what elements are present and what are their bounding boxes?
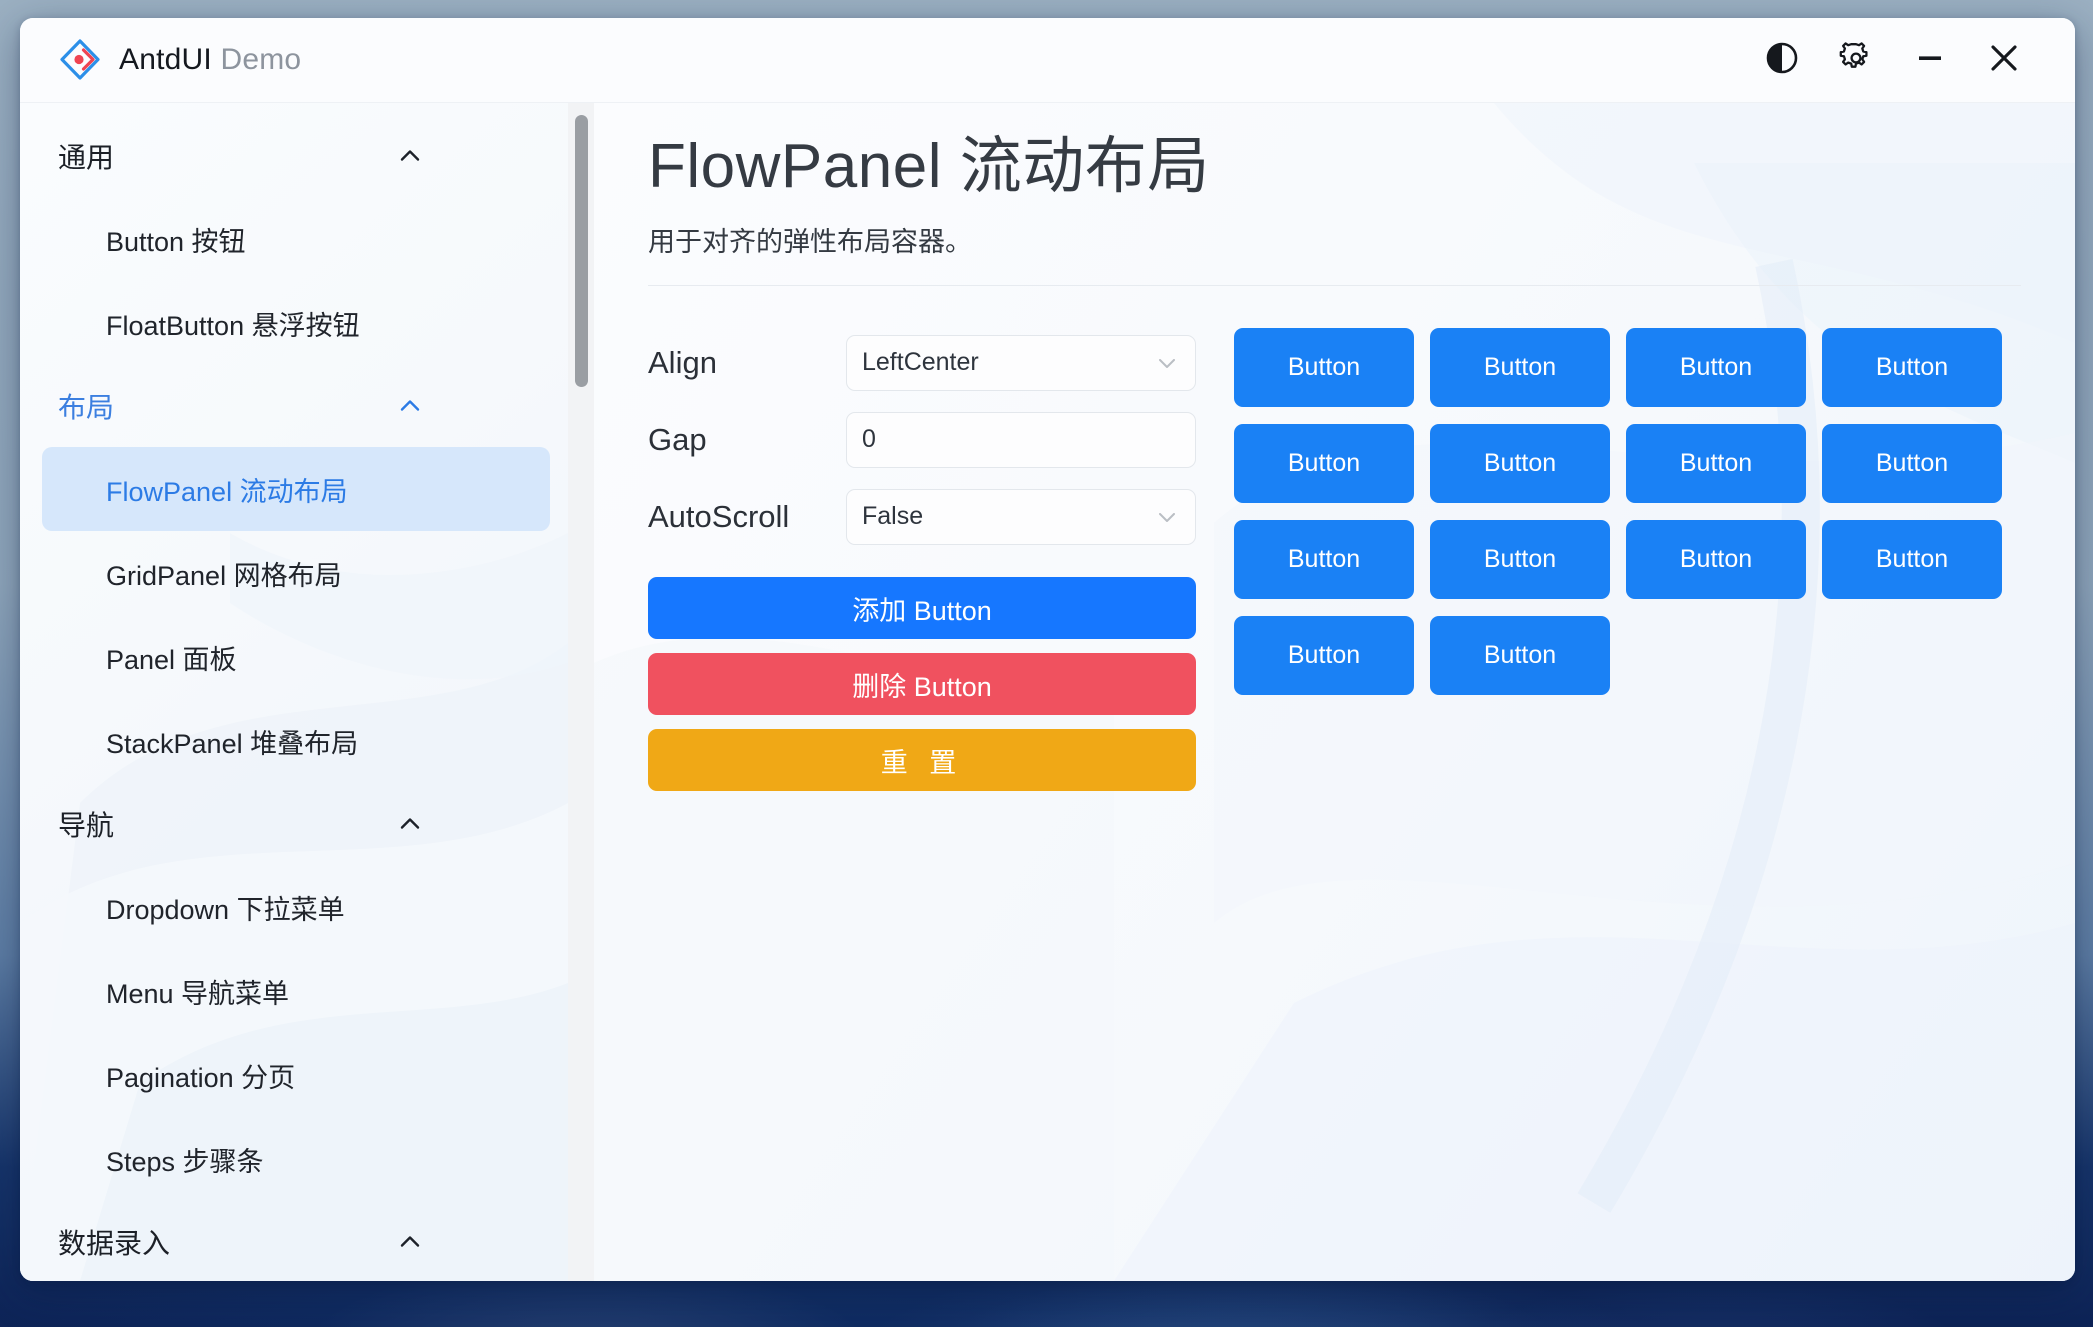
app-brand: AntdUI Demo [20, 38, 301, 82]
sidebar-item-panel[interactable]: Panel 面板 [42, 615, 550, 699]
sidebar-group-label: 布局 [58, 386, 114, 426]
sidebar-item-menu[interactable]: Menu 导航菜单 [42, 949, 550, 1033]
flow-button[interactable]: Button [1234, 616, 1414, 695]
sidebar-item-stackpanel[interactable]: StackPanel 堆叠布局 [42, 699, 550, 783]
sidebar-item-pagination[interactable]: Pagination 分页 [42, 1033, 550, 1117]
sidebar-nav: 通用 Button 按钮 FloatButton 悬浮按钮 布局 [20, 103, 568, 1281]
flow-button[interactable]: Button [1430, 328, 1610, 407]
flow-button[interactable]: Button [1430, 520, 1610, 599]
sidebar-group-general[interactable]: 通用 [20, 115, 568, 197]
content-area: FlowPanel 流动布局 用于对齐的弹性布局容器。 Align LeftCe… [594, 103, 2075, 1281]
sidebar-group-label: 导航 [58, 804, 114, 844]
flow-button[interactable]: Button [1234, 328, 1414, 407]
sidebar-item-label: StackPanel 堆叠布局 [106, 722, 358, 761]
chevron-up-icon [397, 143, 423, 169]
align-label: Align [648, 345, 846, 381]
flow-button[interactable]: Button [1626, 328, 1806, 407]
flow-button[interactable]: Button [1626, 424, 1806, 503]
chevron-down-icon [1155, 351, 1179, 375]
settings-form: Align LeftCenter Gap [648, 324, 1196, 791]
chevron-down-icon [1155, 505, 1179, 529]
sidebar-item-label: Button 按钮 [106, 220, 246, 259]
page-subtitle: 用于对齐的弹性布局容器。 [648, 220, 2021, 259]
antd-diamond-logo-icon [58, 38, 102, 82]
chevron-up-icon [397, 1229, 423, 1255]
autoscroll-select[interactable]: False [846, 489, 1196, 545]
sidebar-item-label: Steps 步骤条 [106, 1140, 264, 1179]
flow-button[interactable]: Button [1234, 520, 1414, 599]
scrollbar-thumb[interactable] [575, 115, 588, 387]
sidebar-item-label: Menu 导航菜单 [106, 972, 289, 1011]
title-bar: AntdUI Demo [20, 18, 2075, 103]
delete-button[interactable]: 删除 Button [648, 653, 1196, 715]
flow-button[interactable]: Button [1234, 424, 1414, 503]
sidebar-item-gridpanel[interactable]: GridPanel 网格布局 [42, 531, 550, 615]
gap-value: 0 [862, 425, 1179, 454]
autoscroll-label: AutoScroll [648, 499, 846, 535]
form-row-autoscroll: AutoScroll False [648, 478, 1196, 555]
sidebar-item-label: FlowPanel 流动布局 [106, 470, 348, 509]
sidebar-item-dropdown[interactable]: Dropdown 下拉菜单 [42, 865, 550, 949]
app-title: AntdUI Demo [119, 43, 301, 77]
title-divider [648, 285, 2021, 286]
page-title: FlowPanel 流动布局 [648, 131, 2021, 202]
sidebar-group-data-entry[interactable]: 数据录入 [20, 1201, 568, 1281]
chevron-up-icon [397, 811, 423, 837]
settings-button[interactable] [1819, 29, 1893, 91]
reset-button[interactable]: 重 置 [648, 729, 1196, 791]
sidebar-item-label: FloatButton 悬浮按钮 [106, 304, 360, 343]
sidebar-group-label: 数据录入 [58, 1222, 170, 1262]
flow-button[interactable]: Button [1430, 616, 1610, 695]
gap-input[interactable]: 0 [846, 412, 1196, 468]
sidebar-group-layout[interactable]: 布局 [20, 365, 568, 447]
flow-button[interactable]: Button [1822, 328, 2002, 407]
minimize-button[interactable] [1893, 29, 1967, 91]
gear-icon [1838, 40, 1874, 81]
sidebar-item-label: GridPanel 网格布局 [106, 554, 342, 593]
half-circle-contrast-icon [1765, 41, 1799, 80]
sidebar-item-label: Dropdown 下拉菜单 [106, 888, 345, 927]
align-value: LeftCenter [862, 348, 1155, 377]
minimize-icon [1912, 40, 1948, 81]
sidebar-item-label: Panel 面板 [106, 638, 237, 677]
sidebar-scrollbar[interactable] [568, 103, 594, 1281]
flow-button[interactable]: Button [1822, 520, 2002, 599]
sidebar: 通用 Button 按钮 FloatButton 悬浮按钮 布局 [20, 103, 568, 1281]
app-title-strong: AntdUI [119, 43, 212, 76]
sidebar-item-label: Pagination 分页 [106, 1056, 295, 1095]
close-button[interactable] [1967, 29, 2041, 91]
flow-panel-demo: Button Button Button Button Button Butto… [1234, 324, 2021, 712]
sidebar-group-navigation[interactable]: 导航 [20, 783, 568, 865]
sidebar-group-label: 通用 [58, 136, 114, 176]
window-body: 通用 Button 按钮 FloatButton 悬浮按钮 布局 [20, 103, 2075, 1281]
gap-label: Gap [648, 422, 846, 458]
sidebar-item-button[interactable]: Button 按钮 [42, 197, 550, 281]
sidebar-item-flowpanel[interactable]: FlowPanel 流动布局 [42, 447, 550, 531]
close-icon [1985, 39, 2023, 82]
flow-button[interactable]: Button [1430, 424, 1610, 503]
theme-toggle-button[interactable] [1745, 29, 1819, 91]
add-button[interactable]: 添加 Button [648, 577, 1196, 639]
sidebar-item-steps[interactable]: Steps 步骤条 [42, 1117, 550, 1201]
app-title-dim: Demo [220, 43, 301, 76]
flow-button[interactable]: Button [1822, 424, 2002, 503]
chevron-up-icon [397, 393, 423, 419]
app-window: AntdUI Demo [20, 18, 2075, 1281]
action-buttons: 添加 Button 删除 Button 重 置 [648, 577, 1196, 791]
demo-panels: Align LeftCenter Gap [648, 324, 2021, 791]
form-row-gap: Gap 0 [648, 401, 1196, 478]
autoscroll-value: False [862, 502, 1155, 531]
sidebar-item-floatbutton[interactable]: FloatButton 悬浮按钮 [42, 281, 550, 365]
align-select[interactable]: LeftCenter [846, 335, 1196, 391]
flow-button[interactable]: Button [1626, 520, 1806, 599]
content-inner: FlowPanel 流动布局 用于对齐的弹性布局容器。 Align LeftCe… [648, 131, 2021, 791]
form-row-align: Align LeftCenter [648, 324, 1196, 401]
window-controls [1745, 29, 2075, 91]
